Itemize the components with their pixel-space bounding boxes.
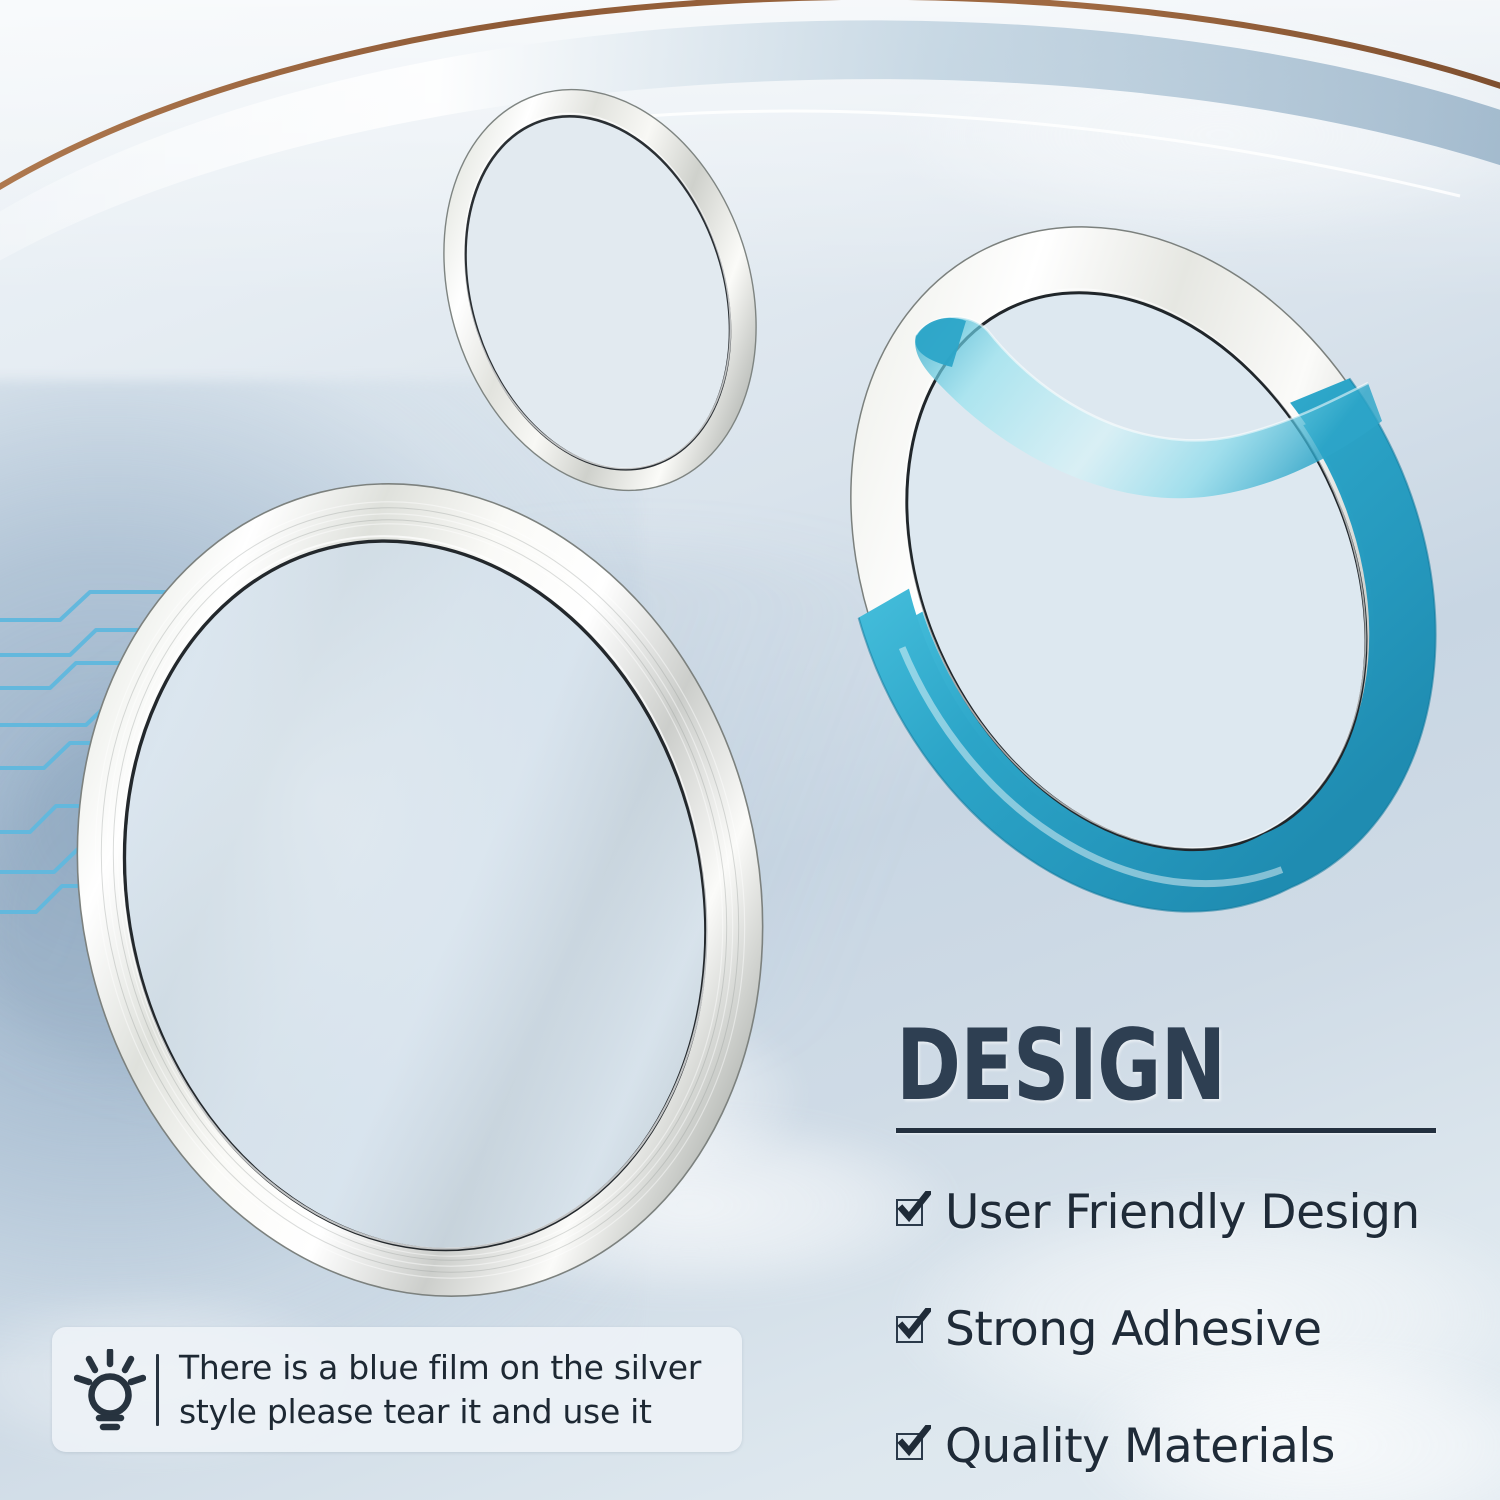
page-title: DESIGN <box>896 1018 1344 1114</box>
checkbox-checked-icon <box>896 1433 923 1460</box>
check-mark-glyph <box>897 1425 931 1459</box>
feature-label: User Friendly Design <box>945 1185 1420 1240</box>
tip-text-line-1: There is a blue film on the silver <box>179 1346 701 1390</box>
design-copy-block: DESIGN User Friendly Design Strong Adhes… <box>896 1018 1456 1474</box>
tip-text: There is a blue film on the silver style… <box>179 1346 701 1433</box>
checkbox-checked-icon <box>896 1316 923 1343</box>
tip-text-line-2: style please tear it and use it <box>179 1390 701 1434</box>
tip-callout-box: There is a blue film on the silver style… <box>52 1327 742 1452</box>
product-marketing-image: DESIGN User Friendly Design Strong Adhes… <box>0 0 1500 1500</box>
check-mark-glyph <box>897 1191 931 1225</box>
title-underline <box>896 1128 1436 1133</box>
checkbox-checked-icon <box>896 1199 923 1226</box>
feature-list: User Friendly Design Strong Adhesive Qua… <box>896 1185 1456 1474</box>
small-silver-ring <box>430 70 770 510</box>
list-item: User Friendly Design <box>896 1185 1456 1240</box>
feature-label: Quality Materials <box>945 1419 1335 1474</box>
list-item: Strong Adhesive <box>896 1302 1456 1357</box>
tip-divider <box>156 1354 159 1426</box>
list-item: Quality Materials <box>896 1419 1456 1474</box>
lightbulb-icon <box>74 1349 146 1431</box>
check-mark-glyph <box>897 1308 931 1342</box>
feature-label: Strong Adhesive <box>945 1302 1322 1357</box>
blue-film-ring <box>820 185 1460 945</box>
large-silver-ring <box>50 470 810 1330</box>
